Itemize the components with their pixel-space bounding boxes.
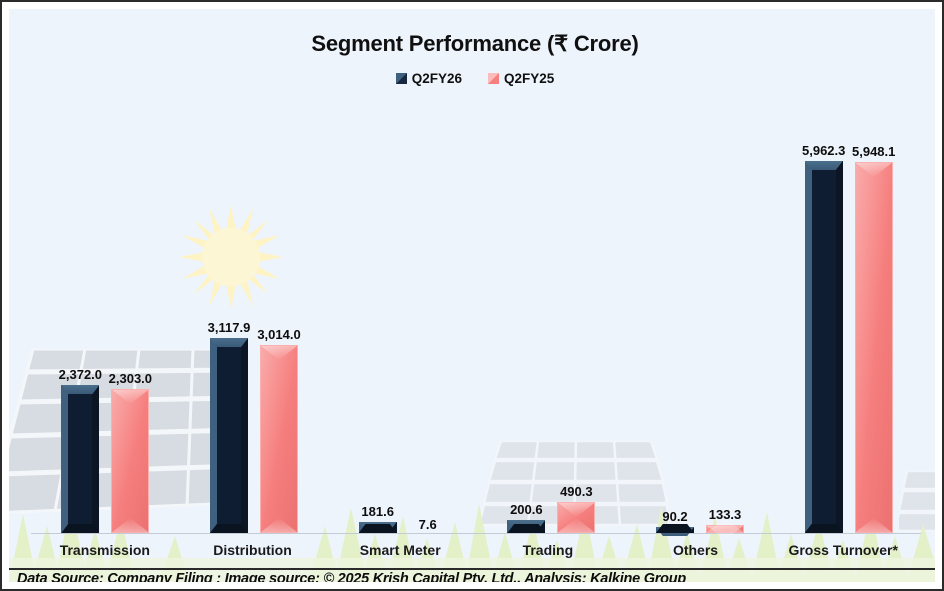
bar-groups: 2,372.02,303.03,117.93,014.0181.67.6200.… [31,99,923,533]
bar-value-label: 90.2 [662,510,687,523]
bar-group: 90.2133.3 [626,99,775,533]
chart-title: Segment Performance (₹ Crore) [9,31,938,57]
bar-q2fy26-trading[interactable] [507,520,545,533]
source-footnote: Data Source: Company Filing ; Image sour… [17,571,937,585]
category-label-distribution: Distribution [179,542,327,558]
category-label-others: Others [622,542,770,558]
category-label-gross-turnover: Gross Turnover* [769,542,917,558]
bar-slot: 200.6 [507,99,545,533]
bar-group: 3,117.93,014.0 [180,99,329,533]
legend-item-q2fy26[interactable]: Q2FY26 [396,71,462,86]
bar-slot: 5,962.3 [805,99,843,533]
bar-value-label: 2,372.0 [59,368,102,381]
bar-value-label: 5,948.1 [852,145,895,158]
bar-q2fy26-smart-meter[interactable] [359,522,397,533]
bar-slot: 181.6 [359,99,397,533]
bar-slot: 3,117.9 [210,99,248,533]
bar-slot: 133.3 [706,99,744,533]
bar-q2fy25-transmission[interactable] [111,389,149,533]
bar-value-label: 7.6 [419,518,437,531]
category-label-smart-meter: Smart Meter [326,542,474,558]
bar-value-label: 200.6 [510,503,543,516]
category-label-row: TransmissionDistributionSmart MeterTradi… [31,534,917,566]
chart-frame: Segment Performance (₹ Crore) Q2FY26 Q2F… [0,0,944,591]
bar-slot: 490.3 [557,99,595,533]
bar-slot: 2,372.0 [61,99,99,533]
bar-bevel [112,390,148,532]
bar-value-label: 490.3 [560,485,593,498]
chart-legend: Q2FY26 Q2FY25 [9,71,938,86]
bar-q2fy26-distribution[interactable] [210,338,248,533]
category-label-trading: Trading [474,542,622,558]
bar-value-label: 5,962.3 [802,144,845,157]
bar-slot: 5,948.1 [855,99,893,533]
bar-slot: 90.2 [656,99,694,533]
bar-slot: 7.6 [409,99,447,533]
bar-value-label: 3,117.9 [208,321,251,334]
bar-q2fy26-gross-turnover[interactable] [805,161,843,533]
bar-group: 2,372.02,303.0 [31,99,180,533]
legend-item-q2fy25[interactable]: Q2FY25 [488,71,554,86]
legend-label-q2fy25: Q2FY25 [504,71,554,86]
bar-value-label: 181.6 [361,505,394,518]
bar-group: 181.67.6 [328,99,477,533]
bar-q2fy25-distribution[interactable] [260,345,298,533]
bar-q2fy25-trading[interactable] [557,502,595,533]
bar-q2fy26-transmission[interactable] [61,385,99,533]
bar-q2fy25-others[interactable] [706,525,744,533]
chart-canvas: Segment Performance (₹ Crore) Q2FY26 Q2F… [6,6,938,585]
bar-value-label: 2,303.0 [109,372,152,385]
bar-slot: 2,303.0 [111,99,149,533]
bar-slot: 3,014.0 [260,99,298,533]
bar-q2fy25-gross-turnover[interactable] [855,162,893,533]
bar-group: 5,962.35,948.1 [774,99,923,533]
category-label-transmission: Transmission [31,542,179,558]
bar-bevel [261,346,297,532]
bar-group: 200.6490.3 [477,99,626,533]
bar-value-label: 3,014.0 [257,328,300,341]
salmon-swatch-icon [488,73,499,84]
bar-q2fy26-others[interactable] [656,527,694,533]
navy-swatch-icon [396,73,407,84]
bar-bevel [856,163,892,532]
legend-label-q2fy26: Q2FY26 [412,71,462,86]
plot-area: 2,372.02,303.03,117.93,014.0181.67.6200.… [9,99,938,534]
footer-divider [9,568,938,570]
